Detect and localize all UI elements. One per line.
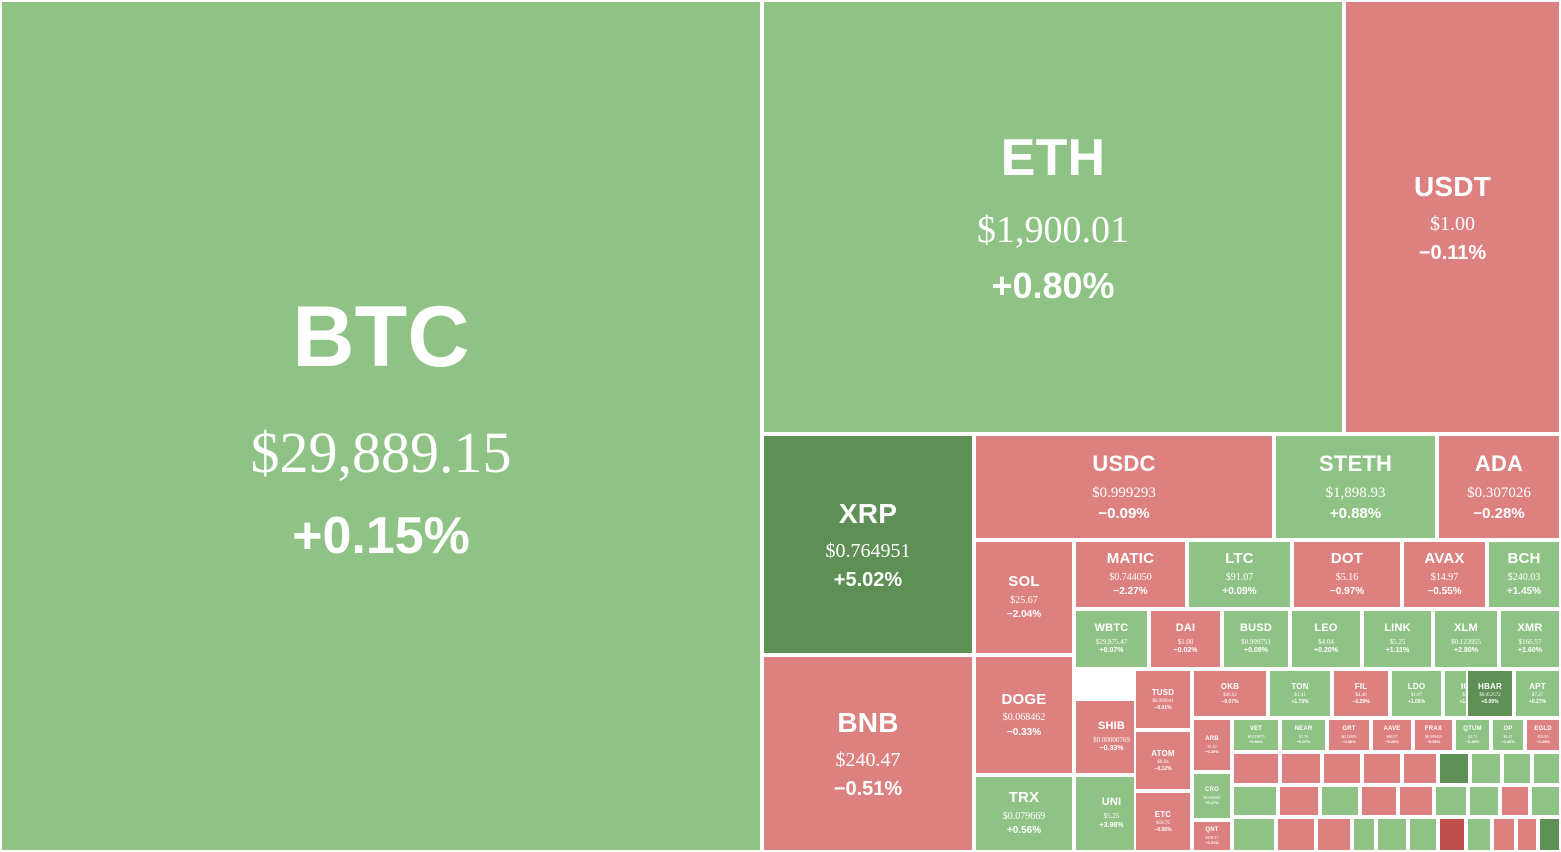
- treemap-tile-link[interactable]: LINK$5.25+1.11%: [1362, 609, 1433, 669]
- tile-change: +0.20%: [1314, 647, 1338, 656]
- tile-ticker: SHIB: [1098, 720, 1125, 734]
- tile-ticker: ATOM: [1151, 749, 1175, 759]
- tile-price: $1,898.93: [1326, 484, 1386, 503]
- treemap-tile-kas[interactable]: KAS: [1316, 817, 1352, 852]
- treemap-tile-gmt[interactable]: GMT: [1352, 817, 1376, 852]
- treemap-tile-qtum[interactable]: QTUM$2.73−0.20%: [1454, 718, 1491, 752]
- treemap-tile-crv[interactable]: CRV: [1438, 817, 1466, 852]
- tile-price: $5.16: [1336, 572, 1359, 585]
- tile-price: $0.123955: [1451, 638, 1481, 647]
- tile-change: −0.06%: [1427, 739, 1441, 744]
- tile-ticker: LINK: [1384, 622, 1410, 636]
- treemap-tile-btc[interactable]: BTC$29,889.15+0.15%: [0, 0, 762, 852]
- crypto-treemap: BTC$29,889.15+0.15%ETH$1,900.01+0.80%USD…: [0, 0, 1561, 852]
- tile-ticker: XLM: [1454, 622, 1478, 636]
- tile-price: $1.00: [1430, 212, 1475, 237]
- treemap-tile-etc[interactable]: ETC$18.76−0.56%: [1134, 791, 1192, 852]
- treemap-tile-grt[interactable]: GRT$0.12809−0.30%: [1327, 718, 1371, 752]
- tile-change: −0.55%: [1427, 586, 1461, 599]
- treemap-tile-steth[interactable]: STETH$1,898.93+0.88%: [1274, 434, 1437, 540]
- tile-price: $1,900.01: [977, 207, 1129, 255]
- tile-change: −0.12%: [1154, 766, 1171, 772]
- tile-change: +5.02%: [834, 568, 902, 593]
- treemap-tile-sand[interactable]: SAND: [1232, 785, 1278, 817]
- tile-ticker: MATIC: [1107, 550, 1154, 569]
- treemap-tile-xmr[interactable]: XMR$166.57+1.60%: [1499, 609, 1561, 669]
- tile-change: −0.97%: [1330, 586, 1364, 599]
- tile-price: $0.00000769: [1093, 736, 1130, 745]
- treemap-tile-hbar[interactable]: HBAR$0.052572+5.09%: [1466, 669, 1514, 718]
- tile-change: +1.06%: [1408, 699, 1425, 705]
- tile-ticker: UNI: [1102, 796, 1122, 810]
- treemap-tile-dot[interactable]: DOT$5.16−0.97%: [1292, 540, 1402, 609]
- tile-price: $0.307026: [1467, 484, 1531, 503]
- treemap-tile-1inch[interactable]: 1INCH: [1466, 817, 1492, 852]
- tile-change: −0.29%: [1352, 699, 1369, 705]
- tile-change: −2.04%: [1007, 609, 1041, 622]
- tile-change: +0.07%: [1100, 647, 1124, 656]
- tile-ticker: QTUM: [1463, 726, 1481, 734]
- treemap-tile-op[interactable]: OP$1.47−0.40%: [1491, 718, 1525, 752]
- treemap-tile-mana[interactable]: MANA: [1532, 752, 1561, 785]
- tile-price: $4.04: [1318, 638, 1334, 647]
- tile-ticker: DOGE: [1002, 691, 1047, 710]
- tile-ticker: QNT: [1205, 827, 1218, 835]
- tile-change: −0.51%: [834, 777, 902, 802]
- treemap-tile-gala[interactable]: GALA: [1408, 817, 1438, 852]
- tile-ticker: AVAX: [1424, 550, 1464, 569]
- tile-change: −0.02%: [1174, 647, 1198, 656]
- treemap-tile-theta[interactable]: THETA: [1470, 752, 1502, 785]
- treemap-tile-egld[interactable]: EGLD$35.85−0.25%: [1525, 718, 1561, 752]
- treemap-tile-mkr[interactable]: MKR: [1280, 752, 1322, 785]
- tile-price: $91.07: [1226, 572, 1254, 585]
- tile-change: +1.45%: [1507, 586, 1541, 599]
- treemap-tile-mina[interactable]: MINA: [1376, 817, 1408, 852]
- treemap-tile-avax[interactable]: AVAX$14.97−0.55%: [1402, 540, 1487, 609]
- tile-price: $0.079669: [1003, 811, 1046, 824]
- tile-ticker: XRP: [839, 496, 897, 531]
- treemap-tile-qnt[interactable]: QNT$108.17−0.21%: [1192, 820, 1232, 852]
- tile-price: $166.57: [1519, 638, 1542, 647]
- tile-change: −0.07%: [1221, 699, 1238, 705]
- treemap-tile-ldo[interactable]: LDO$1.87+1.06%: [1390, 669, 1443, 718]
- treemap-tile-kcs[interactable]: KCS: [1500, 785, 1530, 817]
- treemap-tile-snx[interactable]: SNX: [1398, 785, 1434, 817]
- treemap-tile-chz[interactable]: CHZ: [1320, 785, 1360, 817]
- treemap-tile-cfx[interactable]: CFX: [1516, 817, 1538, 852]
- treemap-tile-bnb[interactable]: BNB$240.47−0.51%: [762, 655, 974, 852]
- tile-ticker: ADA: [1475, 450, 1523, 478]
- tile-ticker: SOL: [1008, 573, 1039, 592]
- treemap-tile-matic[interactable]: MATIC$0.744050−2.27%: [1074, 540, 1187, 609]
- tile-ticker: HBAR: [1478, 682, 1502, 692]
- tile-change: +0.27%: [1529, 699, 1546, 705]
- treemap-tile-ada[interactable]: ADA$0.307026−0.28%: [1437, 434, 1561, 540]
- tile-change: −0.26%: [1385, 739, 1399, 744]
- tile-price: $0.999293: [1092, 484, 1156, 503]
- treemap-tile-cro[interactable]: CRO$0.056940+0.17%: [1192, 772, 1232, 820]
- treemap-tile-usdt[interactable]: USDT$1.00−0.11%: [1344, 0, 1561, 434]
- tile-ticker: BUSD: [1240, 622, 1272, 636]
- tile-change: −0.40%: [1501, 739, 1515, 744]
- tile-ticker: WBTC: [1095, 622, 1129, 636]
- tile-ticker: USDC: [1092, 450, 1155, 478]
- tile-price: $29,875.47: [1096, 638, 1128, 647]
- tile-ticker: TON: [1291, 682, 1308, 692]
- tile-ticker: VET: [1250, 726, 1262, 734]
- treemap-tile-trx[interactable]: TRX$0.079669+0.56%: [974, 775, 1074, 852]
- tile-change: +0.07%: [1297, 739, 1311, 744]
- tile-ticker: ARB: [1205, 736, 1219, 744]
- tile-change: +0.04%: [1249, 739, 1263, 744]
- treemap-tile-flow[interactable]: FLOW: [1434, 785, 1468, 817]
- treemap-tile-sand[interactable]: SAND: [1502, 752, 1532, 785]
- tile-change: −0.28%: [1473, 505, 1524, 524]
- tile-ticker: FRAX: [1425, 726, 1442, 734]
- treemap-tile-celo[interactable]: CELO: [1468, 785, 1500, 817]
- tile-change: −2.27%: [1113, 586, 1147, 599]
- treemap-tile-dai[interactable]: DAI$1.00−0.02%: [1149, 609, 1222, 669]
- tile-change: −0.20%: [1205, 749, 1219, 754]
- tile-change: +0.15%: [292, 504, 470, 569]
- tile-change: −0.56%: [1154, 827, 1171, 833]
- tile-ticker: LDO: [1408, 682, 1426, 692]
- tile-change: −0.01%: [1154, 705, 1171, 711]
- tile-price: $25.67: [1010, 595, 1038, 608]
- tile-change: −0.33%: [1100, 745, 1124, 754]
- tile-ticker: LEO: [1314, 622, 1337, 636]
- treemap-tile-near[interactable]: NEAR$1.70+0.07%: [1280, 718, 1327, 752]
- tile-price: $240.03: [1508, 572, 1541, 585]
- treemap-tile-ltc[interactable]: LTC$91.07+0.09%: [1187, 540, 1292, 609]
- tile-ticker: OKB: [1221, 682, 1239, 692]
- tile-change: +0.09%: [1222, 586, 1256, 599]
- tile-change: −0.09%: [1098, 505, 1149, 524]
- tile-ticker: BCH: [1507, 550, 1540, 569]
- tile-change: −0.11%: [1419, 241, 1486, 266]
- tile-ticker: EGLD: [1534, 726, 1551, 734]
- treemap-tile-wbtc[interactable]: WBTC$29,875.47+0.07%: [1074, 609, 1149, 669]
- tile-price: $1.00: [1178, 638, 1194, 647]
- tile-ticker: ETH: [1001, 126, 1106, 191]
- tile-price: $0.068462: [1003, 712, 1046, 725]
- treemap-tile-xdc[interactable]: XDC: [1322, 752, 1362, 785]
- treemap-tile-bch[interactable]: BCH$240.03+1.45%: [1487, 540, 1561, 609]
- tile-ticker: TRX: [1009, 789, 1040, 808]
- treemap-tile-ftm[interactable]: FTM: [1278, 785, 1320, 817]
- treemap-tile-sol[interactable]: SOL$25.67−2.04%: [974, 540, 1074, 655]
- tile-change: −0.21%: [1205, 840, 1219, 845]
- treemap-tile-ape[interactable]: APE: [1438, 752, 1470, 785]
- tile-price: $14.97: [1431, 572, 1459, 585]
- tile-change: +0.08%: [1244, 647, 1268, 656]
- tile-price: $0.744050: [1109, 572, 1152, 585]
- tile-ticker: FIL: [1355, 682, 1368, 692]
- treemap-tile-atom[interactable]: ATOM$8.04−0.12%: [1134, 730, 1192, 791]
- treemap-tile-xec[interactable]: XEC: [1530, 785, 1561, 817]
- tile-ticker: TUSD: [1152, 688, 1175, 698]
- tile-change: −0.20%: [1466, 739, 1480, 744]
- tile-change: +0.56%: [1007, 825, 1041, 838]
- treemap-tile-algo[interactable]: ALGO: [1232, 752, 1280, 785]
- tile-change: +3.98%: [1100, 822, 1124, 831]
- treemap-tile-doge[interactable]: DOGE$0.068462−0.33%: [974, 655, 1074, 775]
- treemap-tile-xrp[interactable]: XRP$0.764951+5.02%: [762, 434, 974, 655]
- treemap-tile-leo[interactable]: LEO$4.04+0.20%: [1290, 609, 1362, 669]
- tile-ticker: BTC: [292, 284, 469, 392]
- tile-change: +5.09%: [1481, 699, 1498, 705]
- treemap-tile-tusd[interactable]: TUSD$0.999941−0.01%: [1134, 669, 1192, 730]
- treemap-tile-stx[interactable]: STX: [1402, 752, 1438, 785]
- treemap-tile-apt[interactable]: APT$7.47+0.27%: [1514, 669, 1561, 718]
- treemap-tile-rpl[interactable]: RPL: [1360, 785, 1398, 817]
- treemap-tile-fil[interactable]: FIL$4.40−0.29%: [1332, 669, 1390, 718]
- tile-change: −0.33%: [1007, 727, 1041, 740]
- tile-ticker: APT: [1529, 682, 1546, 692]
- tile-change: −0.25%: [1536, 739, 1550, 744]
- tile-price: $5.25: [1104, 812, 1120, 821]
- tile-ticker: GRT: [1342, 726, 1355, 734]
- tile-ticker: STETH: [1319, 450, 1392, 478]
- tile-ticker: XMR: [1517, 622, 1542, 636]
- tile-ticker: DOT: [1331, 550, 1363, 569]
- treemap-tile-aave[interactable]: AAVE$68.87−0.26%: [1371, 718, 1413, 752]
- treemap-tile-frax[interactable]: FRAX$0.999425−0.06%: [1413, 718, 1454, 752]
- tile-ticker: DAI: [1176, 622, 1196, 636]
- tile-ticker: CRO: [1205, 787, 1219, 795]
- tile-ticker: OP: [1503, 726, 1512, 734]
- tile-price: $240.47: [836, 748, 901, 773]
- treemap-tile-inj[interactable]: INJ: [1232, 817, 1276, 852]
- treemap-tile-usdc[interactable]: USDC$0.999293−0.09%: [974, 434, 1274, 540]
- tile-ticker: NEAR: [1295, 726, 1313, 734]
- treemap-tile-btt[interactable]: BTT: [1538, 817, 1561, 852]
- tile-ticker: BNB: [837, 705, 898, 740]
- tile-price: $0.764951: [826, 539, 911, 564]
- tile-change: +0.80%: [991, 263, 1114, 308]
- treemap-tile-rndr[interactable]: RNDR: [1276, 817, 1316, 852]
- treemap-tile-ton[interactable]: TON$1.41+1.73%: [1268, 669, 1332, 718]
- tile-change: +1.60%: [1518, 647, 1542, 656]
- tile-change: +0.17%: [1205, 800, 1219, 805]
- tile-change: +2.80%: [1454, 647, 1478, 656]
- tile-change: +1.73%: [1291, 699, 1308, 705]
- tile-price: $0.999751: [1241, 638, 1271, 647]
- treemap-tile-dydx[interactable]: DYDX: [1492, 817, 1516, 852]
- treemap-tile-arb[interactable]: ARB$1.40−0.20%: [1192, 718, 1232, 772]
- tile-ticker: AAVE: [1383, 726, 1400, 734]
- tile-price: $5.25: [1390, 638, 1406, 647]
- treemap-tile-vet[interactable]: VET$0.019879+0.04%: [1232, 718, 1280, 752]
- treemap-tile-busd[interactable]: BUSD$0.999751+0.08%: [1222, 609, 1290, 669]
- treemap-tile-eth[interactable]: ETH$1,900.01+0.80%: [762, 0, 1344, 434]
- treemap-tile-xlm[interactable]: XLM$0.123955+2.80%: [1433, 609, 1499, 669]
- tile-change: +1.11%: [1386, 647, 1410, 656]
- tile-ticker: ETC: [1155, 810, 1172, 820]
- tile-change: −0.30%: [1342, 739, 1356, 744]
- tile-price: $29,889.15: [251, 417, 512, 490]
- treemap-tile-imx[interactable]: IMX: [1362, 752, 1402, 785]
- treemap-tile-okb[interactable]: OKB$46.62−0.07%: [1192, 669, 1268, 718]
- tile-change: +0.88%: [1330, 505, 1381, 524]
- tile-ticker: USDT: [1414, 169, 1491, 204]
- tile-ticker: LTC: [1225, 550, 1254, 569]
